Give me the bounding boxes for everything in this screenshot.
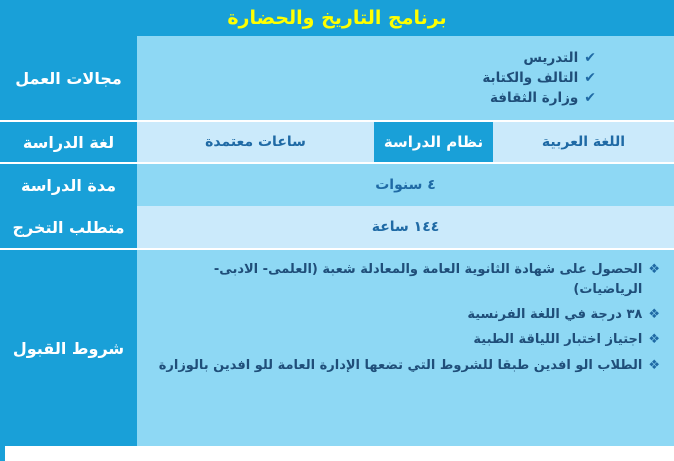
program-table-wrapper: ✔ التدريس ✔ التالف والكتابة ✔ وزارة الثق…: [0, 36, 674, 461]
list-item-label: ٣٨ درجة في اللغة الفرنسية: [151, 305, 642, 325]
program-table: ✔ التدريس ✔ التالف والكتابة ✔ وزارة الثق…: [0, 36, 674, 446]
list-item: ❖ ٣٨ درجة في اللغة الفرنسية: [151, 305, 660, 325]
list-item: ✔ التدريس: [482, 48, 596, 68]
table-row: اللغة العربية نظام الدراسة ساعات معتمدة …: [0, 122, 674, 162]
admission-conditions-value-cell: ❖ الحصول على شهادة الثانوية العامة والمع…: [137, 250, 674, 446]
study-duration-value: ٤ سنوات: [137, 164, 674, 206]
split-row: اللغة العربية نظام الدراسة ساعات معتمدة: [137, 122, 674, 162]
row-label-graduation-requirement: متطلب التخرج: [0, 206, 137, 248]
work-fields-list: ✔ التدريس ✔ التالف والكتابة ✔ وزارة الثق…: [482, 40, 596, 116]
table-row: ٤ سنوات مدة الدراسة: [0, 164, 674, 206]
table-row: ✔ التدريس ✔ التالف والكتابة ✔ وزارة الثق…: [0, 36, 674, 120]
list-item: ❖ اجتياز اختبار اللياقة الطبية: [151, 330, 660, 350]
page-title-banner: برنامج التاريخ والحضارة: [0, 0, 674, 36]
list-item-label: اجتياز اختبار اللياقة الطبية: [151, 330, 642, 350]
work-fields-value-cell: ✔ التدريس ✔ التالف والكتابة ✔ وزارة الثق…: [137, 36, 674, 120]
diamond-bullet-icon: ❖: [648, 330, 660, 350]
list-item-label: التالف والكتابة: [482, 70, 578, 86]
list-item-label: التدريس: [523, 50, 578, 66]
program-info-page: برنامج التاريخ والحضارة ✔ التدريس ✔: [0, 0, 674, 461]
check-icon: ✔: [584, 70, 596, 86]
check-icon: ✔: [584, 90, 596, 106]
page-title: برنامج التاريخ والحضارة: [227, 9, 446, 28]
list-item-label: الحصول على شهادة الثانوية العامة والمعاد…: [151, 260, 642, 300]
row-label-work-fields: مجالات العمل: [0, 36, 137, 120]
study-system-value: ساعات معتمدة: [137, 122, 374, 162]
diamond-bullet-icon: ❖: [648, 356, 660, 376]
list-item: ❖ الطلاب الو افدين طبقا للشروط التي تضعه…: [151, 356, 660, 376]
work-fields-list-wrapper: ✔ التدريس ✔ التالف والكتابة ✔ وزارة الثق…: [137, 40, 674, 116]
study-language-value-cell: اللغة العربية نظام الدراسة ساعات معتمدة: [137, 122, 674, 162]
list-item-label: وزارة الثقافة: [490, 90, 578, 106]
row-label-study-duration: مدة الدراسة: [0, 164, 137, 206]
diamond-bullet-icon: ❖: [648, 305, 660, 325]
list-item-label: الطلاب الو افدين طبقا للشروط التي تضعها …: [151, 356, 642, 376]
study-language-value: اللغة العربية: [493, 122, 674, 162]
row-label-study-language: لغة الدراسة: [0, 122, 137, 162]
admission-conditions-list: ❖ الحصول على شهادة الثانوية العامة والمع…: [137, 250, 674, 391]
row-label-admission-conditions: شروط القبول: [0, 250, 137, 446]
study-language-split-table: اللغة العربية نظام الدراسة ساعات معتمدة: [137, 122, 674, 162]
study-system-sub-label: نظام الدراسة: [374, 122, 493, 162]
graduation-requirement-value: ١٤٤ ساعة: [137, 206, 674, 248]
list-item: ❖ الحصول على شهادة الثانوية العامة والمع…: [151, 260, 660, 300]
table-row: ١٤٤ ساعة متطلب التخرج: [0, 206, 674, 248]
diamond-bullet-icon: ❖: [648, 260, 660, 280]
table-row: ❖ الحصول على شهادة الثانوية العامة والمع…: [0, 250, 674, 446]
check-icon: ✔: [584, 50, 596, 66]
list-item: ✔ وزارة الثقافة: [482, 88, 596, 108]
list-item: ✔ التالف والكتابة: [482, 68, 596, 88]
